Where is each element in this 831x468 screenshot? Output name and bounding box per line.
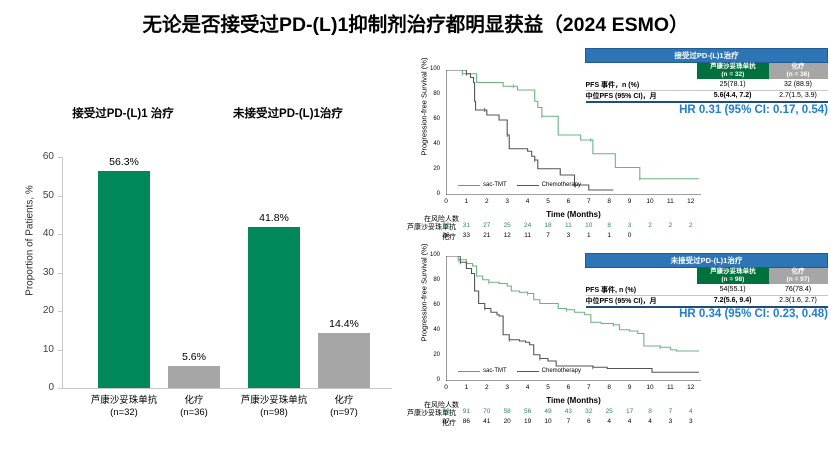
km-x-tick-label: 3 xyxy=(500,384,514,391)
row-value-pfs-events-chemo: 32 (88.9) xyxy=(769,79,828,90)
km-x-tick-label: 6 xyxy=(561,384,575,391)
table-corner-cell xyxy=(586,63,697,80)
table-row: 中位PFS (95% CI)，月 7.2(5.6, 9.4) 2.3(1.6, … xyxy=(586,295,828,307)
km-x-tick-label: 6 xyxy=(561,198,575,205)
risk-count: 2 xyxy=(683,222,699,229)
risk-count: 8 xyxy=(642,408,658,415)
km-x-tick-label: 1 xyxy=(459,198,473,205)
bar-y-tick: 50 xyxy=(20,190,54,201)
km-bot-x-axis-label: Time (Months) xyxy=(446,396,701,405)
km-x-tick-label: 7 xyxy=(582,384,596,391)
bar-y-tick-mark xyxy=(58,388,62,389)
km-y-tick-label: 60 xyxy=(424,116,440,122)
summary-table-no-prior-pd-l1: 未接受过PD-(L)1治疗 芦康沙妥珠单抗 (n = 98) 化疗 (n = 9… xyxy=(585,253,828,308)
risk-count: 21 xyxy=(479,232,495,239)
km-top-y-axis-label: Progression-free Survival (%) xyxy=(420,37,429,177)
risk-count: 25 xyxy=(499,222,515,229)
risk-count: 10 xyxy=(581,222,597,229)
km-top-legend: sac-TMTChemotherapy xyxy=(458,182,591,189)
km-x-tick-label: 5 xyxy=(541,384,555,391)
table-corner-cell xyxy=(586,268,697,285)
summary-table-prior-pd-l1: 接受过PD-(L)1治疗 芦康沙妥珠单抗 (n = 32) 化疗 (n = 36… xyxy=(585,48,828,103)
legend-swatch-sac-tmt xyxy=(458,371,480,372)
km-x-tick-label: 9 xyxy=(623,198,637,205)
km-x-tick-label: 2 xyxy=(480,198,494,205)
legend-swatch-chemo xyxy=(517,371,539,372)
km-y-tick-label: 60 xyxy=(424,302,440,308)
risk-count: 7 xyxy=(560,418,576,425)
km-y-tick-label: 100 xyxy=(424,252,440,258)
category-n: (n=97) xyxy=(289,407,399,419)
slide-root: 无论是否接受过PD-(L)1抑制剂治疗都明显获益（2024 ESMO） 接受过P… xyxy=(0,0,831,468)
row-value-median-pfs-sac: 5.6(4.4, 7.2) xyxy=(697,90,769,102)
col-n-chemo: (n = 97) xyxy=(787,276,810,283)
km-y-tick-label: 40 xyxy=(424,327,440,333)
table-banner-no-prior: 未接受过PD-(L)1治疗 xyxy=(586,254,828,268)
row-value-median-pfs-chemo: 2.7(1.5, 3.9) xyxy=(769,90,828,102)
risk-count: 17 xyxy=(622,408,638,415)
km-x-tick-label: 9 xyxy=(623,384,637,391)
risk-count: 98 xyxy=(438,408,454,415)
risk-count: 0 xyxy=(622,232,638,239)
row-value-pfs-events-sac: 54(55.1) xyxy=(697,284,769,295)
col-name-sac: 芦康沙妥珠单抗 xyxy=(710,268,756,275)
legend-label-sac-tmt: sac-TMT xyxy=(483,368,507,374)
bar-group-title-no-prior: 未接受过PD-(L)1治疗 xyxy=(193,105,383,121)
km-x-tick-label: 11 xyxy=(663,384,677,391)
km-x-tick-label: 2 xyxy=(480,384,494,391)
risk-count: 7 xyxy=(662,408,678,415)
risk-count: 3 xyxy=(683,418,699,425)
bar-y-tick: 20 xyxy=(20,305,54,316)
km-x-tick-label: 3 xyxy=(500,198,514,205)
table-row: PFS 事件, n (%) 54(55.1) 76(78.4) xyxy=(586,284,828,295)
bar-2 xyxy=(168,366,220,388)
risk-count: 32 xyxy=(438,222,454,229)
legend-label-chemo: Chemotherapy xyxy=(542,182,581,188)
bar-y-tick: 30 xyxy=(20,267,54,278)
risk-count: 58 xyxy=(499,408,515,415)
bar-x-category-4: 化疗(n=97) xyxy=(289,395,399,419)
bar-group-title-prior: 接受过PD-(L)1 治疗 xyxy=(38,105,208,121)
table-subheader-row: 芦康沙妥珠单抗 (n = 98) 化疗 (n = 97) xyxy=(586,268,828,285)
risk-count: 49 xyxy=(540,408,556,415)
km-x-tick-label: 0 xyxy=(439,198,453,205)
row-value-pfs-events-chemo: 76(78.4) xyxy=(769,284,828,295)
table-col-header-chemo: 化疗 (n = 97) xyxy=(769,268,828,285)
km-x-tick-label: 10 xyxy=(643,198,657,205)
bar-3 xyxy=(248,227,300,388)
row-value-median-pfs-chemo: 2.3(1.6, 2.7) xyxy=(769,295,828,307)
risk-count: 8 xyxy=(601,222,617,229)
col-name-chemo: 化疗 xyxy=(792,268,805,275)
table-row: PFS 事件，n (%) 25(78.1) 32 (88.9) xyxy=(586,79,828,90)
risk-count: 27 xyxy=(479,222,495,229)
risk-count: 25 xyxy=(601,408,617,415)
risk-count: 2 xyxy=(642,222,658,229)
km-y-tick-label: 20 xyxy=(424,352,440,358)
row-label-pfs-events: PFS 事件，n (%) xyxy=(586,79,697,90)
km-x-tick-label: 7 xyxy=(582,198,596,205)
legend-swatch-sac-tmt xyxy=(458,185,480,186)
risk-count: 4 xyxy=(622,418,638,425)
risk-count: 41 xyxy=(479,418,495,425)
col-name-sac: 芦康沙妥珠单抗 xyxy=(710,63,756,70)
table-col-header-sac: 芦康沙妥珠单抗 (n = 32) xyxy=(697,63,769,80)
risk-count: 4 xyxy=(683,408,699,415)
row-value-pfs-events-sac: 25(78.1) xyxy=(697,79,769,90)
row-label-median-pfs: 中位PFS (95% CI)，月 xyxy=(586,295,697,307)
legend-swatch-chemo xyxy=(517,185,539,186)
legend-label-chemo: Chemotherapy xyxy=(542,368,581,374)
risk-count: 6 xyxy=(581,418,597,425)
bar-y-tick: 40 xyxy=(20,228,54,239)
risk-count: 1 xyxy=(581,232,597,239)
km-x-tick-label: 11 xyxy=(663,198,677,205)
risk-count: 32 xyxy=(581,408,597,415)
risk-count: 1 xyxy=(601,232,617,239)
km-bot-y-axis-label: Progression-free Survival (%) xyxy=(420,223,429,363)
legend-label-sac-tmt: sac-TMT xyxy=(483,182,507,188)
risk-count: 4 xyxy=(601,418,617,425)
risk-count: 3 xyxy=(622,222,638,229)
km-x-tick-label: 0 xyxy=(439,384,453,391)
risk-count: 11 xyxy=(560,222,576,229)
risk-count: 97 xyxy=(438,418,454,425)
risk-count: 3 xyxy=(560,232,576,239)
bar-value-label-3: 41.8% xyxy=(234,212,314,224)
col-n-sac: (n = 32) xyxy=(721,71,744,78)
bar-y-tick: 10 xyxy=(20,344,54,355)
km-x-tick-label: 8 xyxy=(602,384,616,391)
risk-count: 10 xyxy=(540,418,556,425)
km-top-x-axis-label: Time (Months) xyxy=(446,210,701,219)
km-y-tick-label: 100 xyxy=(424,66,440,72)
table-banner-row: 接受过PD-(L)1治疗 xyxy=(586,49,828,63)
risk-count: 91 xyxy=(458,408,474,415)
risk-count: 31 xyxy=(458,222,474,229)
row-label-pfs-events: PFS 事件, n (%) xyxy=(586,284,697,295)
page-title: 无论是否接受过PD-(L)1抑制剂治疗都明显获益（2024 ESMO） xyxy=(0,8,831,37)
km-x-tick-label: 12 xyxy=(684,384,698,391)
km-x-tick-label: 8 xyxy=(602,198,616,205)
bar-y-tick: 0 xyxy=(20,382,54,393)
category-name: 化疗 xyxy=(289,395,399,407)
km-x-tick-label: 4 xyxy=(521,198,535,205)
table-row: 中位PFS (95% CI)，月 5.6(4.4, 7.2) 2.7(1.5, … xyxy=(586,90,828,102)
hazard-ratio-prior: HR 0.31 (95% CI: 0.17, 0.54) xyxy=(588,104,828,116)
risk-count: 24 xyxy=(520,222,536,229)
risk-count: 43 xyxy=(560,408,576,415)
risk-count: 36 xyxy=(438,232,454,239)
km-x-tick-label: 12 xyxy=(684,198,698,205)
risk-count: 70 xyxy=(479,408,495,415)
km-y-tick-label: 0 xyxy=(424,191,440,197)
table-col-header-chemo: 化疗 (n = 36) xyxy=(769,63,828,80)
table-banner-row: 未接受过PD-(L)1治疗 xyxy=(586,254,828,268)
table-banner-prior: 接受过PD-(L)1治疗 xyxy=(586,49,828,63)
km-y-tick-label: 80 xyxy=(424,277,440,283)
bar-y-tick: 60 xyxy=(20,151,54,162)
km-x-tick-label: 4 xyxy=(521,384,535,391)
risk-count: 86 xyxy=(458,418,474,425)
risk-count: 4 xyxy=(642,418,658,425)
bar-value-label-4: 14.4% xyxy=(304,318,384,330)
col-n-chemo: (n = 36) xyxy=(787,71,810,78)
risk-count: 19 xyxy=(520,418,536,425)
km-bot-legend: sac-TMTChemotherapy xyxy=(458,368,591,375)
km-x-tick-label: 1 xyxy=(459,384,473,391)
risk-count: 11 xyxy=(520,232,536,239)
risk-count: 7 xyxy=(540,232,556,239)
bar-4 xyxy=(318,333,370,388)
km-y-tick-label: 0 xyxy=(424,377,440,383)
hazard-ratio-no-prior: HR 0.34 (95% CI: 0.23, 0.48) xyxy=(588,308,828,320)
table-col-header-sac: 芦康沙妥珠单抗 (n = 98) xyxy=(697,268,769,285)
risk-count: 3 xyxy=(662,418,678,425)
risk-count: 33 xyxy=(458,232,474,239)
col-name-chemo: 化疗 xyxy=(792,63,805,70)
risk-count: 2 xyxy=(662,222,678,229)
row-value-median-pfs-sac: 7.2(5.6, 9.4) xyxy=(697,295,769,307)
bar-value-label-1: 56.3% xyxy=(84,156,164,168)
risk-count: 12 xyxy=(499,232,515,239)
risk-count: 56 xyxy=(520,408,536,415)
bar-value-label-2: 5.6% xyxy=(154,351,234,363)
km-y-tick-label: 20 xyxy=(424,166,440,172)
bar-series: 56.3%5.6%41.8%14.4% xyxy=(62,157,392,388)
km-y-tick-label: 40 xyxy=(424,141,440,147)
bar-x-axis-line xyxy=(62,388,392,389)
bar-chart-panel: 接受过PD-(L)1 治疗 未接受过PD-(L)1治疗 Proportion o… xyxy=(8,95,408,425)
km-y-tick-label: 80 xyxy=(424,91,440,97)
bar-1 xyxy=(98,171,150,388)
km-x-tick-label: 5 xyxy=(541,198,555,205)
risk-count: 18 xyxy=(540,222,556,229)
km-x-tick-label: 10 xyxy=(643,384,657,391)
col-n-sac: (n = 98) xyxy=(721,276,744,283)
row-label-median-pfs: 中位PFS (95% CI)，月 xyxy=(586,90,697,102)
table-subheader-row: 芦康沙妥珠单抗 (n = 32) 化疗 (n = 36) xyxy=(586,63,828,80)
risk-count: 20 xyxy=(499,418,515,425)
